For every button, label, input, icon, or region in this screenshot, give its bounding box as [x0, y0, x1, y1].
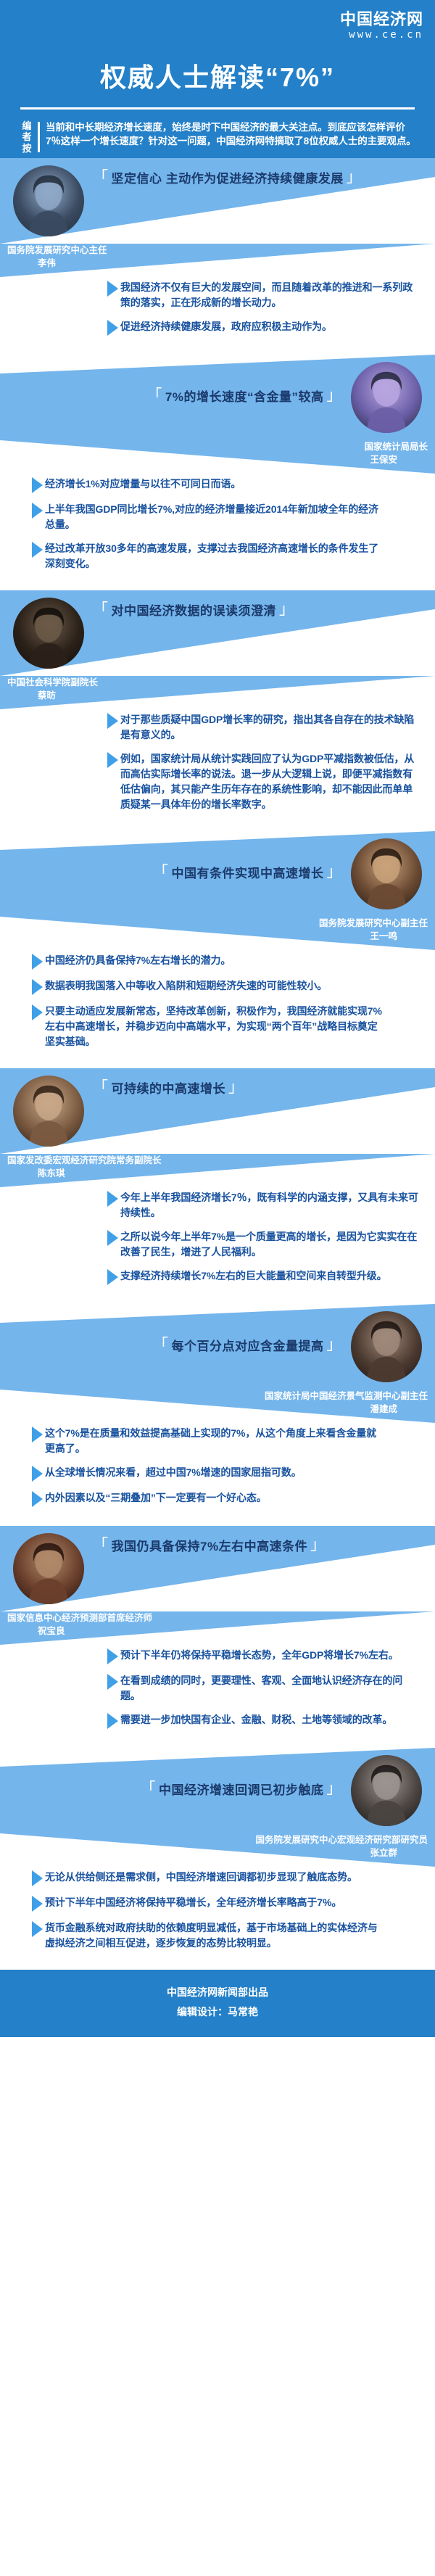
- person-meta-text: 国务院发展研究中心主任李伟: [7, 244, 107, 270]
- quote-bracket-close: 」: [327, 1337, 343, 1353]
- quote-bracket-open: 「: [141, 1781, 157, 1796]
- quote-headline: 「中国经济增速回调已初步触底」: [141, 1780, 343, 1798]
- quote-headline-text: 中国有条件实现中高速增长: [172, 863, 324, 881]
- bullet-item: 例如，国家统计局从统计实践回应了认为GDP平减指数被低估，从而高估实际增长率的说…: [107, 751, 422, 812]
- bullet-item: 今年上半年我国经济增长7％，既有科学的内涵支撑，又具有未来可持续性。: [107, 1190, 422, 1221]
- expert-section: 「对中国经济数据的误读须澄清」中国社会科学院副院长蔡昉对于那些质疑中国GDP增长…: [0, 590, 435, 831]
- bullet-triangle-icon: [32, 503, 43, 519]
- bullet-text: 预计下半年中国经济将保持平稳增长，全年经济增长率略高于7%。: [45, 1895, 341, 1910]
- footer-editor: 编辑设计：马常艳: [0, 2002, 435, 2022]
- bullet-triangle-icon: [107, 752, 118, 768]
- bullet-text: 支撑经济持续增长7%左右的巨大能量和空间来自转型升级。: [120, 1268, 387, 1284]
- expert-section: 「中国经济增速回调已初步触底」国务院发展研究中心宏观经济研究部研究员张立群无论从…: [0, 1748, 435, 1970]
- expert-banner: 「中国有条件实现中高速增长」: [0, 831, 435, 917]
- infographic-page: 中国经济网 www.ce.cn 权威人士解读“7%” 编者按 当前和中长期经济增…: [0, 0, 435, 2037]
- person-org: 国务院发展研究中心主任: [7, 245, 107, 255]
- quote-bracket-close: 」: [279, 602, 295, 617]
- bullet-triangle-icon: [32, 1870, 43, 1886]
- bullet-item: 支撑经济持续增长7%左右的巨大能量和空间来自转型升级。: [107, 1268, 422, 1285]
- quote-headline-text: 7%的增长速度“含金量”较高: [165, 387, 324, 405]
- bullet-list: 对于那些质疑中国GDP增长率的研究，指出其各自存在的技术缺陷是有意义的。例如，国…: [0, 709, 435, 831]
- quote-bracket-open: 「: [153, 864, 169, 880]
- quote-headline: 「可持续的中高速增长」: [93, 1078, 244, 1097]
- site-logo: 中国经济网 www.ce.cn: [340, 12, 423, 40]
- avatar: [13, 1533, 84, 1604]
- bullet-list: 这个7%是在质量和效益提高基础上实现的7%，从这个角度上来看含金量就更高了。从全…: [0, 1423, 435, 1526]
- quote-headline: 「坚定信心 主动作为促进经济持续健康发展」: [93, 168, 362, 186]
- expert-section: 「我国仍具备保持7%左右中高速条件」国家信息中心经济预测部首席经济师祝宝良预计下…: [0, 1526, 435, 1748]
- editor-note-text: 当前和中长期经济增长速度，始终是时下中国经济的最大关注点。到底应该怎样评价7％这…: [46, 120, 418, 148]
- person-meta-text: 国家统计局局长王保安: [364, 440, 428, 466]
- bullet-text: 数据表明我国落入中等收入陷阱和短期经济失速的可能性较小。: [45, 978, 327, 994]
- bullet-triangle-icon: [32, 1491, 43, 1507]
- expert-banner: 「每个百分点对应含金量提高」: [0, 1304, 435, 1390]
- avatar: [13, 1076, 84, 1147]
- quote-headline-text: 对中国经济数据的误读须澄清: [112, 600, 277, 619]
- bullet-triangle-icon: [32, 1921, 43, 1937]
- bullet-item: 经济增长1%对应增量与以往不可同日而语。: [32, 476, 384, 493]
- bullet-item: 预计下半年中国经济将保持平稳增长，全年经济增长率略高于7%。: [32, 1895, 384, 1912]
- quote-headline-text: 每个百分点对应含金量提高: [172, 1336, 324, 1354]
- person-org: 国家统计局中国经济景气监测中心副主任: [265, 1391, 428, 1401]
- portrait-photo: [351, 838, 422, 909]
- person-org: 国家发改委宏观经济研究院常务副院长: [7, 1155, 162, 1165]
- portrait-photo: [13, 1533, 84, 1604]
- bullet-triangle-icon: [32, 542, 43, 558]
- expert-sections: 「坚定信心 主动作为促进经济持续健康发展」国务院发展研究中心主任李伟我国经济不仅…: [0, 158, 435, 1970]
- bullet-item: 内外因素以及“三期叠加”下一定要有一个好心态。: [32, 1490, 384, 1507]
- person-meta: 国家发改委宏观经济研究院常务副院长陈东琪: [0, 1154, 435, 1187]
- quote-headline: 「每个百分点对应含金量提高」: [153, 1336, 342, 1354]
- bullet-item: 无论从供给侧还是需求侧，中国经济增速回调都初步显现了触底态势。: [32, 1870, 384, 1886]
- bullet-list: 经济增长1%对应增量与以往不可同日而语。上半年我国GDP同比增长7%,对应的经济…: [0, 474, 435, 590]
- bullet-text: 经济增长1%对应增量与以往不可同日而语。: [45, 476, 241, 492]
- person-name: 王一鸣: [319, 930, 428, 943]
- portrait-photo: [13, 598, 84, 669]
- bullet-triangle-icon: [32, 954, 43, 970]
- bullet-triangle-icon: [107, 713, 118, 729]
- page-header: 中国经济网 www.ce.cn 权威人士解读“7%” 编者按 当前和中长期经济增…: [0, 0, 435, 158]
- bullet-item: 上半年我国GDP同比增长7%,对应的经济增量接近2014年新加坡全年的经济总量。: [32, 502, 384, 532]
- bullet-text: 中国经济仍具备保持7%左右增长的潜力。: [45, 953, 231, 968]
- bullet-triangle-icon: [107, 1648, 118, 1664]
- quote-headline-text: 可持续的中高速增长: [112, 1078, 226, 1097]
- quote-bracket-close: 」: [347, 170, 362, 185]
- expert-section: 「可持续的中高速增长」国家发改委宏观经济研究院常务副院长陈东琪今年上半年我国经济…: [0, 1068, 435, 1304]
- bullet-triangle-icon: [32, 477, 43, 493]
- person-name: 王保安: [364, 453, 428, 466]
- expert-section: 「坚定信心 主动作为促进经济持续健康发展」国务院发展研究中心主任李伟我国经济不仅…: [0, 158, 435, 355]
- quote-headline-text: 坚定信心 主动作为促进经济持续健康发展: [112, 168, 344, 186]
- bullet-text: 之所以说今年上半年7%是一个质量更高的增长，是因为它实实在在改善了民生，增进了人…: [120, 1229, 422, 1260]
- person-name: 李伟: [7, 257, 107, 270]
- bullet-text: 促进经济持续健康发展，政府应积极主动作为。: [120, 319, 332, 334]
- person-name: 潘建成: [265, 1403, 428, 1416]
- bullet-triangle-icon: [32, 979, 43, 995]
- person-name: 张立群: [255, 1846, 428, 1859]
- quote-bracket-open: 「: [153, 1337, 169, 1353]
- person-meta: 国家统计局中国经济景气监测中心副主任潘建成: [0, 1390, 435, 1423]
- bullet-text: 货币金融系统对政府扶助的依赖度明显减低，基于市场基础上的实体经济与虚拟经济之间相…: [45, 1920, 384, 1951]
- bullet-item: 中国经济仍具备保持7%左右增长的潜力。: [32, 953, 384, 970]
- title-divider: [20, 107, 415, 110]
- quote-bracket-open: 「: [93, 170, 109, 185]
- person-meta: 国家统计局局长王保安: [0, 440, 435, 474]
- bullet-triangle-icon: [107, 1230, 118, 1246]
- portrait-photo: [351, 362, 422, 433]
- person-meta-text: 中国社会科学院副院长蔡昉: [7, 676, 98, 702]
- expert-banner: 「对中国经济数据的误读须澄清」: [0, 590, 435, 676]
- bullet-text: 内外因素以及“三期叠加”下一定要有一个好心态。: [45, 1490, 267, 1506]
- expert-banner: 「坚定信心 主动作为促进经济持续健康发展」: [0, 158, 435, 244]
- quote-bracket-close: 」: [310, 1537, 326, 1553]
- bullet-text: 经过改革开放30多年的高速发展，支撑过去我国经济高速增长的条件发生了深刻变化。: [45, 541, 384, 571]
- portrait-photo: [13, 165, 84, 236]
- person-meta-text: 国务院发展研究中心宏观经济研究部研究员张立群: [255, 1833, 428, 1859]
- person-org: 国家统计局局长: [364, 442, 428, 452]
- bullet-text: 对于那些质疑中国GDP增长率的研究，指出其各自存在的技术缺陷是有意义的。: [120, 712, 422, 743]
- quote-headline: 「中国有条件实现中高速增长」: [153, 863, 342, 881]
- footer-producer: 中国经济网新闻部出品: [0, 1983, 435, 2002]
- bullet-item: 这个7%是在质量和效益提高基础上实现的7%，从这个角度上来看含金量就更高了。: [32, 1426, 384, 1456]
- editor-note-label: 编者按: [20, 120, 33, 154]
- bullet-triangle-icon: [107, 1191, 118, 1207]
- quote-bracket-close: 」: [228, 1080, 244, 1095]
- bullet-text: 今年上半年我国经济增长7％，既有科学的内涵支撑，又具有未来可持续性。: [120, 1190, 422, 1221]
- bullet-list: 我国经济不仅有巨大的发展空间，而且随着改革的推进和一系列政策的落实，正在形成新的…: [0, 277, 435, 355]
- bullet-item: 需要进一步加快国有企业、金融、财税、土地等领域的改革。: [107, 1712, 422, 1729]
- bullet-item: 促进经济持续健康发展，政府应积极主动作为。: [107, 319, 422, 336]
- bullet-item: 之所以说今年上半年7%是一个质量更高的增长，是因为它实实在在改善了民生，增进了人…: [107, 1229, 422, 1260]
- bullet-text: 我国经济不仅有巨大的发展空间，而且随着改革的推进和一系列政策的落实，正在形成新的…: [120, 280, 422, 310]
- bullet-list: 中国经济仍具备保持7%左右增长的潜力。数据表明我国落入中等收入陷阱和短期经济失速…: [0, 950, 435, 1068]
- person-meta-text: 国家信息中心经济预测部首席经济师祝宝良: [7, 1611, 152, 1638]
- person-org: 国家信息中心经济预测部首席经济师: [7, 1613, 152, 1623]
- bullet-list: 今年上半年我国经济增长7％，既有科学的内涵支撑，又具有未来可持续性。之所以说今年…: [0, 1187, 435, 1304]
- person-meta: 国务院发展研究中心副主任王一鸣: [0, 917, 435, 950]
- bullet-list: 无论从供给侧还是需求侧，中国经济增速回调都初步显现了触底态势。预计下半年中国经济…: [0, 1867, 435, 1970]
- bullet-text: 这个7%是在质量和效益提高基础上实现的7%，从这个角度上来看含金量就更高了。: [45, 1426, 384, 1456]
- person-org: 中国社会科学院副院长: [7, 677, 98, 688]
- portrait-photo: [351, 1755, 422, 1826]
- bullet-item: 只要主动适应发展新常态，坚持改革创新，积极作为，我国经济就能实现7%左右中高速增…: [32, 1004, 384, 1049]
- bullet-triangle-icon: [107, 1269, 118, 1285]
- bullet-item: 我国经济不仅有巨大的发展空间，而且随着改革的推进和一系列政策的落实，正在形成新的…: [107, 280, 422, 310]
- quote-bracket-open: 「: [93, 602, 109, 617]
- person-meta: 国务院发展研究中心主任李伟: [0, 244, 435, 277]
- quote-bracket-open: 「: [93, 1080, 109, 1095]
- avatar: [351, 362, 422, 433]
- bullet-triangle-icon: [32, 1896, 43, 1912]
- portrait-photo: [351, 1311, 422, 1382]
- page-footer: 中国经济网新闻部出品 编辑设计：马常艳: [0, 1970, 435, 2037]
- expert-section: 「7%的增长速度“含金量”较高」国家统计局局长王保安经济增长1%对应增量与以往不…: [0, 355, 435, 590]
- bullet-text: 上半年我国GDP同比增长7%,对应的经济增量接近2014年新加坡全年的经济总量。: [45, 502, 384, 532]
- person-meta-text: 国家发改委宏观经济研究院常务副院长陈东琪: [7, 1154, 162, 1180]
- page-title: 权威人士解读“7%”: [0, 57, 435, 94]
- bullet-triangle-icon: [32, 1004, 43, 1020]
- person-org: 国务院发展研究中心宏观经济研究部研究员: [255, 1835, 428, 1845]
- person-name: 祝宝良: [7, 1625, 152, 1638]
- expert-banner: 「我国仍具备保持7%左右中高速条件」: [0, 1526, 435, 1611]
- person-name: 陈东琪: [7, 1167, 162, 1180]
- person-org: 国务院发展研究中心副主任: [319, 918, 428, 928]
- bullet-text: 在看到成绩的同时，更要理性、客观、全面地认识经济存在的问题。: [120, 1673, 422, 1704]
- quote-headline: 「对中国经济数据的误读须澄清」: [93, 600, 295, 619]
- quote-bracket-open: 「: [93, 1537, 109, 1553]
- person-meta-text: 国家统计局中国经济景气监测中心副主任潘建成: [265, 1390, 428, 1416]
- expert-banner: 「可持续的中高速增长」: [0, 1068, 435, 1154]
- bullet-triangle-icon: [107, 1674, 118, 1690]
- quote-bracket-close: 」: [327, 864, 343, 880]
- editor-note-divider: [38, 122, 40, 152]
- person-meta: 国务院发展研究中心宏观经济研究部研究员张立群: [0, 1833, 435, 1867]
- expert-section: 「每个百分点对应含金量提高」国家统计局中国经济景气监测中心副主任潘建成这个7%是…: [0, 1304, 435, 1526]
- person-name: 蔡昉: [7, 689, 98, 702]
- expert-section: 「中国有条件实现中高速增长」国务院发展研究中心副主任王一鸣中国经济仍具备保持7%…: [0, 831, 435, 1068]
- quote-bracket-close: 」: [327, 388, 343, 403]
- avatar: [351, 838, 422, 909]
- quote-bracket-close: 」: [327, 1781, 343, 1796]
- bullet-item: 货币金融系统对政府扶助的依赖度明显减低，基于市场基础上的实体经济与虚拟经济之间相…: [32, 1920, 384, 1951]
- bullet-text: 从全球增长情况来看，超过中国7%增速的国家屈指可数。: [45, 1465, 302, 1480]
- avatar: [351, 1311, 422, 1382]
- expert-banner: 「7%的增长速度“含金量”较高」: [0, 355, 435, 440]
- avatar: [13, 165, 84, 236]
- bullet-triangle-icon: [107, 320, 118, 336]
- quote-headline-text: 我国仍具备保持7%左右中高速条件: [112, 1536, 308, 1554]
- bullet-item: 预计下半年仍将保持平稳增长态势，全年GDP将增长7%左右。: [107, 1648, 422, 1664]
- person-meta-text: 国务院发展研究中心副主任王一鸣: [319, 917, 428, 943]
- brand-url: www.ce.cn: [340, 30, 423, 40]
- person-meta: 中国社会科学院副院长蔡昉: [0, 676, 435, 709]
- editor-note: 编者按 当前和中长期经济增长速度，始终是时下中国经济的最大关注点。到底应该怎样评…: [20, 120, 418, 154]
- bullet-text: 需要进一步加快国有企业、金融、财税、土地等领域的改革。: [120, 1712, 392, 1727]
- bullet-item: 数据表明我国落入中等收入陷阱和短期经济失速的可能性较小。: [32, 978, 384, 995]
- portrait-photo: [13, 1076, 84, 1147]
- bullet-text: 无论从供给侧还是需求侧，中国经济增速回调都初步显现了触底态势。: [45, 1870, 357, 1885]
- quote-headline-text: 中国经济增速回调已初步触底: [159, 1780, 324, 1798]
- bullet-triangle-icon: [107, 1713, 118, 1729]
- brand-name-cn: 中国经济网: [340, 12, 423, 28]
- bullet-text: 预计下半年仍将保持平稳增长态势，全年GDP将增长7%左右。: [120, 1648, 399, 1663]
- bullet-triangle-icon: [32, 1427, 43, 1442]
- bullet-text: 只要主动适应发展新常态，坚持改革创新，积极作为，我国经济就能实现7%左右中高速增…: [45, 1004, 384, 1049]
- avatar: [351, 1755, 422, 1826]
- person-meta: 国家信息中心经济预测部首席经济师祝宝良: [0, 1611, 435, 1645]
- avatar: [13, 598, 84, 669]
- bullet-list: 预计下半年仍将保持平稳增长态势，全年GDP将增长7%左右。在看到成绩的同时，更要…: [0, 1645, 435, 1748]
- bullet-item: 从全球增长情况来看，超过中国7%增速的国家屈指可数。: [32, 1465, 384, 1482]
- quote-headline: 「7%的增长速度“含金量”较高」: [146, 387, 342, 405]
- bullet-item: 经过改革开放30多年的高速发展，支撑过去我国经济高速增长的条件发生了深刻变化。: [32, 541, 384, 571]
- quote-headline: 「我国仍具备保持7%左右中高速条件」: [93, 1536, 326, 1554]
- bullet-text: 例如，国家统计局从统计实践回应了认为GDP平减指数被低估，从而高估实际增长率的说…: [120, 751, 422, 812]
- bullet-item: 在看到成绩的同时，更要理性、客观、全面地认识经济存在的问题。: [107, 1673, 422, 1704]
- bullet-triangle-icon: [107, 281, 118, 297]
- expert-banner: 「中国经济增速回调已初步触底」: [0, 1748, 435, 1833]
- bullet-item: 对于那些质疑中国GDP增长率的研究，指出其各自存在的技术缺陷是有意义的。: [107, 712, 422, 743]
- bullet-triangle-icon: [32, 1466, 43, 1482]
- quote-bracket-open: 「: [146, 388, 162, 403]
